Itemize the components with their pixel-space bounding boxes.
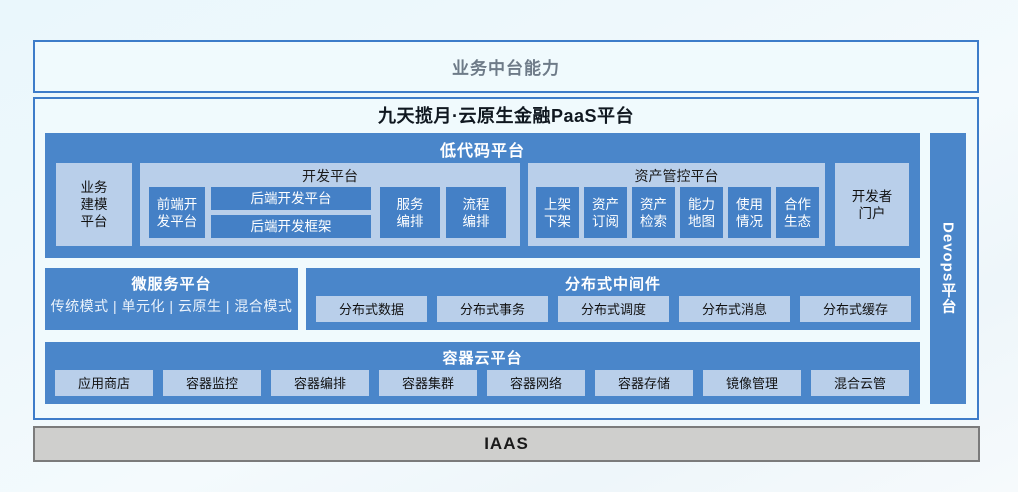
backend-dev-platform[interactable]: 后端开发平台 <box>211 187 371 210</box>
middleware-panel: 分布式中间件 分布式数据 分布式事务 分布式调度 分布式消息 分布式缓存 <box>306 268 920 330</box>
architecture-diagram: 业务中台能力 九天揽月·云原生金融PaaS平台 低代码平台 业务 建模 平台 开… <box>0 0 1018 492</box>
process-orchestration[interactable]: 流程 编排 <box>446 187 506 238</box>
asset-item-2[interactable]: 资产 检索 <box>632 187 675 238</box>
container-item-3[interactable]: 容器集群 <box>379 370 477 396</box>
asset-item-0[interactable]: 上架 下架 <box>536 187 579 238</box>
backend-dev-framework[interactable]: 后端开发框架 <box>211 215 371 238</box>
asset-item-4[interactable]: 使用 情况 <box>728 187 771 238</box>
paas-platform-label: 九天揽月·云原生金融PaaS平台 <box>378 102 634 128</box>
iaas-label: IAAS <box>484 434 529 454</box>
middleware-item-0[interactable]: 分布式数据 <box>316 296 427 322</box>
asset-item-1[interactable]: 资产 订阅 <box>584 187 627 238</box>
container-item-2[interactable]: 容器编排 <box>271 370 369 396</box>
asset-item-5[interactable]: 合作 生态 <box>776 187 819 238</box>
dev-platform-group: 开发平台 前端开 发平台 后端开发平台 后端开发框架 服务 编排 流程 编排 <box>140 163 520 246</box>
iaas-footer: IAAS <box>33 426 980 462</box>
middleware-title: 分布式中间件 <box>306 273 920 294</box>
capability-header-box: 业务中台能力 <box>33 40 979 93</box>
frontend-dev-platform[interactable]: 前端开 发平台 <box>149 187 205 238</box>
container-item-4[interactable]: 容器网络 <box>487 370 585 396</box>
service-orchestration[interactable]: 服务 编排 <box>380 187 440 238</box>
asset-item-3[interactable]: 能力 地图 <box>680 187 723 238</box>
microservice-platform-subtitle: 传统模式 | 单元化 | 云原生 | 混合模式 <box>45 296 298 316</box>
container-cloud-title: 容器云平台 <box>45 347 920 368</box>
container-item-0[interactable]: 应用商店 <box>55 370 153 396</box>
container-item-5[interactable]: 容器存储 <box>595 370 693 396</box>
dev-platform-title: 开发平台 <box>140 166 520 186</box>
lowcode-platform-title: 低代码平台 <box>45 137 920 161</box>
middleware-item-1[interactable]: 分布式事务 <box>437 296 548 322</box>
microservice-platform-title: 微服务平台 <box>45 273 298 294</box>
container-item-1[interactable]: 容器监控 <box>163 370 261 396</box>
capability-header-label: 业务中台能力 <box>452 54 560 79</box>
container-cloud-panel: 容器云平台 应用商店 容器监控 容器编排 容器集群 容器网络 容器存储 镜像管理… <box>45 342 920 404</box>
microservice-platform-panel: 微服务平台 传统模式 | 单元化 | 云原生 | 混合模式 <box>45 268 298 330</box>
container-item-6[interactable]: 镜像管理 <box>703 370 801 396</box>
devops-platform-label: Devops平台 <box>938 222 959 314</box>
business-modeling-platform[interactable]: 业务 建模 平台 <box>56 163 132 246</box>
lowcode-platform-panel: 低代码平台 业务 建模 平台 开发平台 前端开 发平台 后端开发平台 后端开发框… <box>45 133 920 258</box>
paas-platform-header: 九天揽月·云原生金融PaaS平台 <box>33 100 979 130</box>
middleware-item-3[interactable]: 分布式消息 <box>679 296 790 322</box>
asset-platform-title: 资产管控平台 <box>528 166 825 186</box>
container-item-7[interactable]: 混合云管 <box>811 370 909 396</box>
developer-portal[interactable]: 开发者 门户 <box>835 163 909 246</box>
devops-platform-bar[interactable]: Devops平台 <box>930 133 966 404</box>
asset-platform-group: 资产管控平台 上架 下架 资产 订阅 资产 检索 能力 地图 使用 情况 合作 … <box>528 163 825 246</box>
middleware-item-2[interactable]: 分布式调度 <box>558 296 669 322</box>
middleware-item-4[interactable]: 分布式缓存 <box>800 296 911 322</box>
